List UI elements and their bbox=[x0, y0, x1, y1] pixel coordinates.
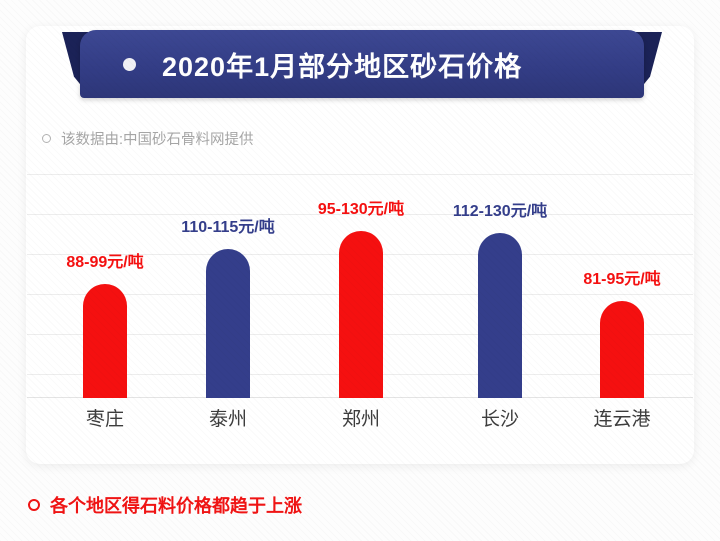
x-category-label: 枣庄 bbox=[86, 404, 124, 431]
bar-枣庄[interactable] bbox=[83, 284, 127, 398]
bar-value-label: 81-95元/吨 bbox=[583, 265, 660, 289]
x-category-label: 泰州 bbox=[209, 404, 247, 431]
bar-value-label: 112-130元/吨 bbox=[453, 197, 547, 221]
filled-dot-icon bbox=[123, 58, 136, 71]
subtitle-text: 该数据由:中国砂石骨料网提供 bbox=[61, 128, 254, 149]
bar-value-label: 110-115元/吨 bbox=[181, 213, 274, 237]
page-title: 2020年1月部分地区砂石价格 bbox=[162, 45, 522, 84]
footer-note: 各个地区得石料价格都趋于上涨 bbox=[28, 492, 302, 518]
subtitle-row: 该数据由:中国砂石骨料网提供 bbox=[42, 128, 254, 149]
x-category-label: 长沙 bbox=[481, 404, 519, 431]
bars-layer: 88-99元/吨 110-115元/吨 95-130元/吨 112-130元/吨… bbox=[27, 174, 693, 398]
bar-value-label: 88-99元/吨 bbox=[66, 248, 143, 272]
ribbon-body: 2020年1月部分地区砂石价格 bbox=[80, 30, 644, 98]
x-category-label: 郑州 bbox=[342, 404, 380, 431]
bar-泰州[interactable] bbox=[206, 249, 250, 398]
x-category-label: 连云港 bbox=[593, 404, 650, 431]
x-axis-labels: 枣庄 泰州 郑州 长沙 连云港 bbox=[27, 404, 693, 440]
bar-value-label: 95-130元/吨 bbox=[318, 195, 404, 219]
hollow-circle-icon bbox=[28, 499, 40, 511]
hollow-circle-icon bbox=[42, 134, 51, 143]
bar-连云港[interactable] bbox=[600, 301, 644, 398]
bar-郑州[interactable] bbox=[339, 231, 383, 398]
title-ribbon: 2020年1月部分地区砂石价格 bbox=[62, 24, 662, 104]
bar-长沙[interactable] bbox=[478, 233, 522, 398]
footer-text: 各个地区得石料价格都趋于上涨 bbox=[50, 492, 302, 518]
